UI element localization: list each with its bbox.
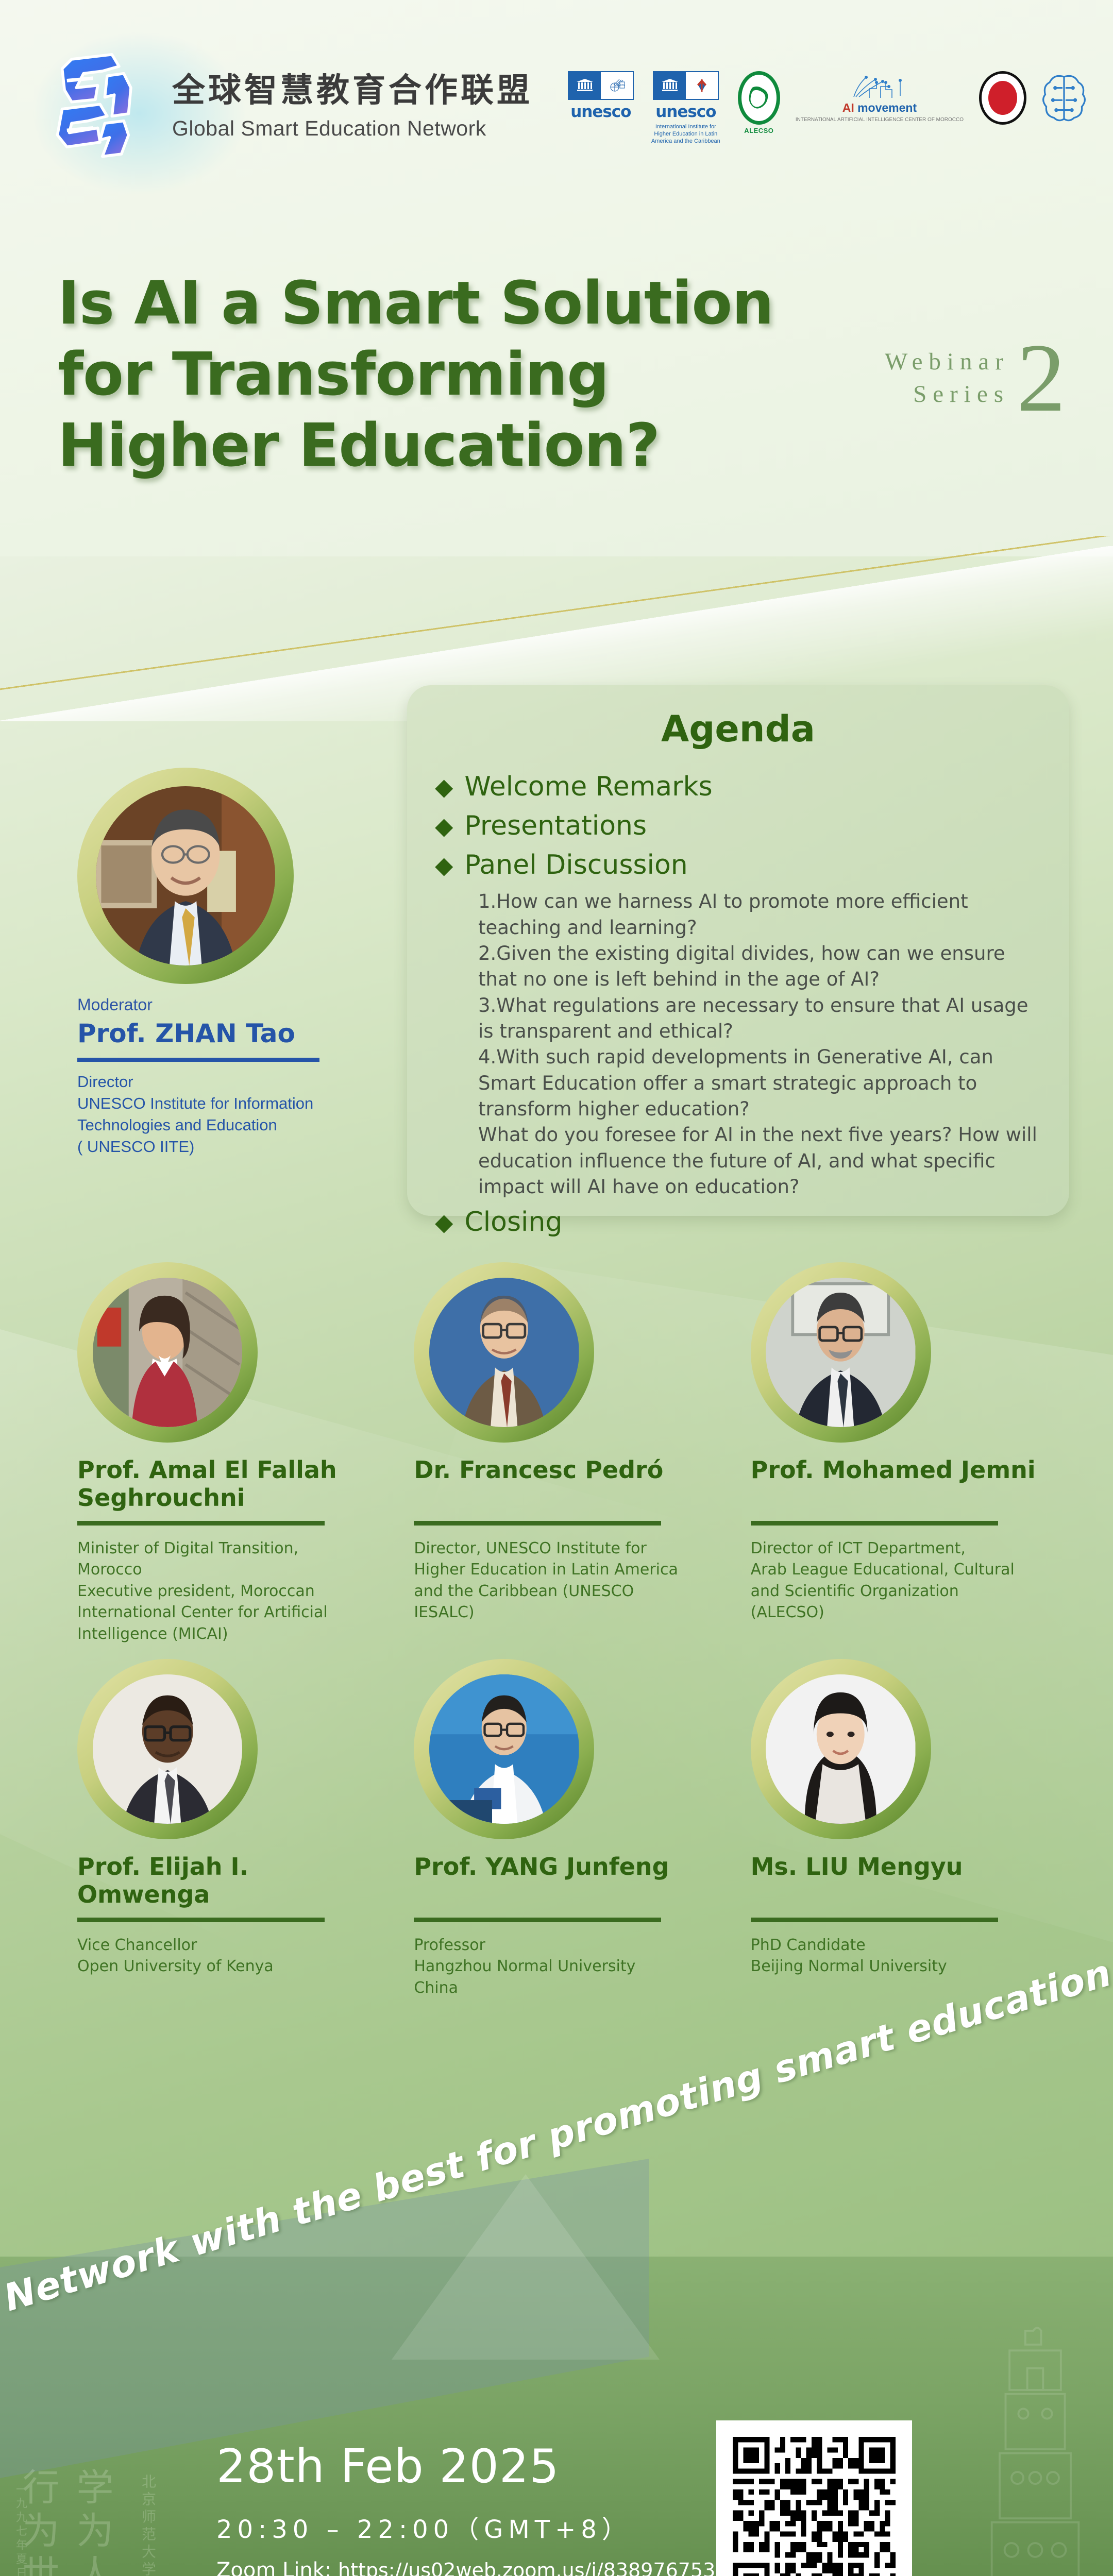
speaker-portrait-mohamed	[766, 1278, 916, 1428]
zoom-registration-qr[interactable]	[716, 2420, 912, 2576]
partner-logo-university-of-goroka	[979, 71, 1026, 125]
agenda-item-panel-discussion: ◆ Panel Discussion	[435, 850, 1041, 881]
moderator-portrait	[96, 786, 276, 966]
speaker-name: Prof. YANG Junfeng	[414, 1853, 714, 1914]
speaker-card-francesc: Dr. Francesc Pedró Director, UNESCO Inst…	[414, 1262, 714, 1645]
speaker-divider	[751, 1521, 998, 1526]
partner-logo-unesco-iesalc: unesco International Institute for Highe…	[649, 71, 722, 145]
goroka-seal-icon	[979, 71, 1026, 125]
agenda-item-label: Presentations	[464, 811, 647, 842]
webinar-series-badge: Webinar Series 2	[885, 340, 1066, 416]
speakers-row-2: Prof. Elijah I. Omwenga Vice Chancellor …	[77, 1659, 1051, 1998]
agenda-question: 4.With such rapid developments in Genera…	[478, 1044, 1041, 1122]
speaker-portrait-liu	[766, 1674, 916, 1824]
moderator-name: Prof. ZHAN Tao	[77, 1019, 366, 1048]
speaker-portrait-yang	[429, 1674, 579, 1824]
partner-logo-ai-movement: AI movement INTERNATIONAL ARTIFICIAL INT…	[796, 71, 964, 123]
zoom-link-row: Zoom Link: https://us02web.zoom.us/j/838…	[216, 2558, 740, 2576]
speaker-photo-ring	[751, 1659, 931, 1839]
ai-movement-subtitle: INTERNATIONAL ARTIFICIAL INTELLIGENCE CE…	[796, 116, 964, 123]
unesco-wordmark: unesco	[570, 103, 631, 121]
ai-network-icon	[849, 71, 910, 101]
speaker-card-amal: Prof. Amal El Fallah Seghrouchni Ministe…	[77, 1262, 378, 1645]
title-line-3: Higher Education?	[58, 410, 862, 481]
agenda-question: 2.Given the existing digital divides, ho…	[478, 941, 1041, 993]
moderator-card: Moderator Prof. ZHAN Tao Director UNESCO…	[77, 768, 366, 1158]
ai-brain-icon	[1042, 71, 1086, 125]
speaker-divider	[414, 1521, 661, 1526]
agenda-item-label: Panel Discussion	[464, 850, 687, 881]
agenda-question: What do you foresee for AI in the next f…	[478, 1122, 1041, 1200]
partner-logo-unesco: IITE unesco	[568, 71, 634, 121]
speaker-photo-ring	[414, 1659, 594, 1839]
partner-logo-ai-brain	[1042, 71, 1086, 125]
speaker-card-liu: Ms. LIU Mengyu PhD Candidate Beijing Nor…	[751, 1659, 1051, 1998]
speaker-affiliation: Professor Hangzhou Normal University Chi…	[414, 1935, 714, 1998]
speaker-affiliation: Director, UNESCO Institute for Higher Ed…	[414, 1538, 714, 1623]
speaker-card-mohamed: Prof. Mohamed Jemni Director of ICT Depa…	[751, 1262, 1051, 1645]
speaker-card-yang: Prof. YANG Junfeng Professor Hangzhou No…	[414, 1659, 714, 1998]
agenda-item-welcome: ◆ Welcome Remarks	[435, 772, 1041, 803]
event-date: 28th Feb 2025	[216, 2439, 740, 2494]
svg-text:IITE: IITE	[620, 84, 626, 87]
speaker-photo-ring	[77, 1659, 258, 1839]
event-details: 28th Feb 2025 20:30 – 22:00（GMT+8） Zoom …	[216, 2439, 740, 2576]
agenda-question-list: 1.How can we harness AI to promote more …	[478, 889, 1041, 1200]
series-label-series: Series	[885, 378, 1009, 411]
speaker-divider	[751, 1918, 998, 1922]
diamond-bullet-icon: ◆	[435, 853, 453, 877]
diamond-bullet-icon: ◆	[435, 814, 453, 838]
agenda-item-label: Welcome Remarks	[464, 772, 712, 803]
moderator-divider	[77, 1058, 319, 1062]
unesco-emblem-icon: IITE	[568, 71, 634, 100]
unesco-iesalc-subtitle: International Institute for Higher Educa…	[649, 123, 722, 145]
zoom-link-label: Zoom Link:	[216, 2558, 338, 2576]
agenda-question: 1.How can we harness AI to promote more …	[478, 889, 1041, 941]
alecso-caption: ALECSO	[744, 127, 773, 134]
event-time: 20:30 – 22:00（GMT+8）	[216, 2509, 740, 2545]
agenda-question: 3.What regulations are necessary to ensu…	[478, 993, 1041, 1045]
speaker-name: Prof. Amal El Fallah Seghrouchni	[77, 1456, 378, 1518]
page-header: 全球智慧教育合作联盟 Global Smart Education Networ…	[0, 0, 1113, 196]
speaker-affiliation: Vice Chancellor Open University of Kenya	[77, 1935, 378, 1977]
partner-logo-alecso: ALECSO	[738, 71, 780, 134]
agenda-item-label: Closing	[464, 1207, 562, 1238]
moderator-affiliation: Director UNESCO Institute for Informatio…	[77, 1071, 366, 1158]
speaker-name: Ms. LIU Mengyu	[751, 1853, 1051, 1914]
partner-logo-strip: IITE unesco	[568, 71, 1086, 145]
speaker-name: Prof. Mohamed Jemni	[751, 1456, 1051, 1518]
diamond-bullet-icon: ◆	[435, 775, 453, 799]
diamond-bullet-icon: ◆	[435, 1210, 453, 1234]
speaker-affiliation: Director of ICT Department, Arab League …	[751, 1538, 1051, 1623]
gsen-logo-icon	[36, 47, 155, 166]
speaker-divider	[77, 1918, 325, 1922]
speaker-name: Prof. Elijah I. Omwenga	[77, 1853, 378, 1914]
qr-code-icon	[728, 2432, 901, 2576]
speaker-portrait-amal	[93, 1278, 243, 1428]
speaker-divider	[414, 1918, 661, 1922]
speakers-row-1: Prof. Amal El Fallah Seghrouchni Ministe…	[77, 1262, 1051, 1645]
org-name-cn: 全球智慧教育合作联盟	[172, 73, 533, 109]
agenda-item-presentations: ◆ Presentations	[435, 811, 1041, 842]
moderator-role-label: Moderator	[77, 995, 366, 1014]
page-footer: 28th Feb 2025 20:30 – 22:00（GMT+8） Zoom …	[0, 2411, 1113, 2576]
series-number: 2	[1017, 340, 1066, 416]
title-line-2: for Transforming	[58, 339, 862, 410]
speaker-name: Dr. Francesc Pedró	[414, 1456, 714, 1518]
alecso-emblem-icon	[738, 71, 780, 125]
speaker-portrait-francesc	[429, 1278, 579, 1428]
series-label-webinar: Webinar	[885, 346, 1009, 378]
agenda-panel: Agenda ◆ Welcome Remarks ◆ Presentations…	[407, 685, 1069, 1216]
agenda-heading: Agenda	[435, 708, 1041, 750]
speaker-divider	[77, 1521, 325, 1526]
unesco-iesalc-emblem-icon	[653, 71, 719, 100]
brand-lockup: 全球智慧教育合作联盟 Global Smart Education Networ…	[36, 47, 533, 166]
poster-title: Is AI a Smart Solution for Transforming …	[58, 268, 862, 481]
speaker-portrait-elijah	[93, 1674, 243, 1824]
speaker-photo-ring	[414, 1262, 594, 1443]
agenda-item-closing: ◆ Closing	[435, 1207, 1041, 1238]
moderator-photo-ring	[77, 768, 294, 984]
zoom-link-value[interactable]: https://us02web.zoom.us/j/83897675379	[338, 2559, 740, 2576]
ai-movement-wordmark: AI movement	[842, 101, 917, 115]
org-name-en: Global Smart Education Network	[172, 116, 533, 141]
title-line-1: Is AI a Smart Solution	[58, 268, 862, 339]
speaker-affiliation: PhD Candidate Beijing Normal University	[751, 1935, 1051, 1977]
speakers-grid: Prof. Amal El Fallah Seghrouchni Ministe…	[77, 1262, 1051, 2013]
speaker-photo-ring	[751, 1262, 931, 1443]
unesco-iesalc-wordmark: unesco	[655, 103, 716, 121]
speaker-affiliation: Minister of Digital Transition, Morocco …	[77, 1538, 378, 1645]
speaker-photo-ring	[77, 1262, 258, 1443]
speaker-card-elijah: Prof. Elijah I. Omwenga Vice Chancellor …	[77, 1659, 378, 1998]
